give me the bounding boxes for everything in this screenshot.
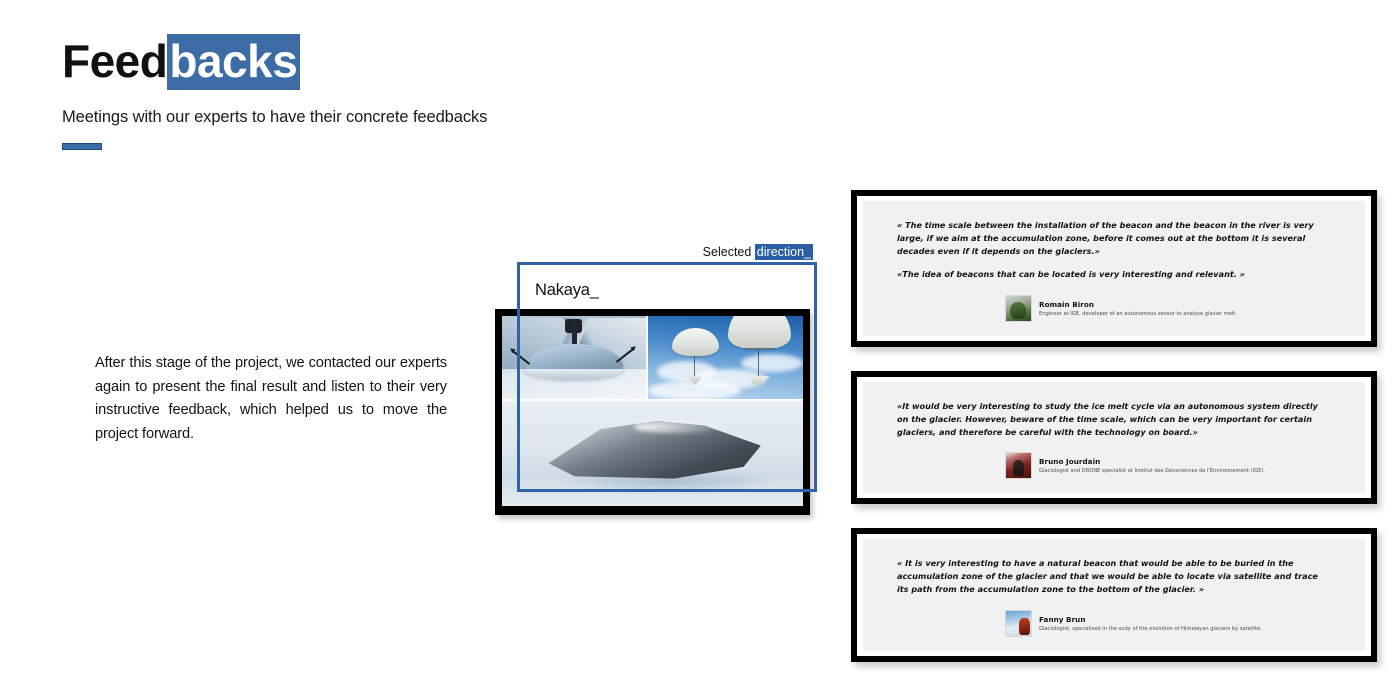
balloon-strut (744, 348, 775, 349)
render-parachute-balloons (646, 316, 803, 399)
avatar (1005, 452, 1032, 479)
attribution-meta: Bruno Jourdain Glaciologist and DRONE sp… (1039, 457, 1265, 474)
attribution: Bruno Jourdain Glaciologist and DRONE sp… (1005, 452, 1331, 479)
attribution: Romain Biron Engineer at IGE, developer … (1005, 295, 1331, 322)
render-dome-device-on-glacier (502, 316, 646, 399)
header: Feedbacks Meetings with our experts to h… (62, 38, 762, 150)
attribution-meta: Fanny Brun Glaciologist, specialised in … (1039, 615, 1262, 632)
dome-base (525, 369, 623, 380)
feedback-card-inner: « The time scale between the installatio… (857, 196, 1371, 341)
page-title: Feedbacks (62, 38, 762, 84)
feedback-card: « The time scale between the installatio… (851, 190, 1377, 347)
expert-role: Glaciologist and DRONE specialist at Ins… (1039, 468, 1265, 474)
balloon-canopy-small (672, 328, 719, 356)
showcase: Selected direction_ (490, 245, 835, 525)
expert-role: Engineer at IGE, developer of an autonom… (1039, 311, 1237, 317)
selected-direction-plain: Selected (703, 245, 755, 259)
intro-paragraph: After this stage of the project, we cont… (95, 352, 447, 447)
balloon-tether (694, 356, 695, 378)
feedback-card-body: « It is very interesting to have a natur… (863, 539, 1365, 650)
attribution-meta: Romain Biron Engineer at IGE, developer … (1039, 300, 1237, 317)
expert-role: Glaciologist, specialised in the sudy of… (1039, 626, 1262, 632)
feedback-card: «It would be very interesting to study t… (851, 371, 1377, 504)
feedback-card-body: « The time scale between the installatio… (863, 201, 1365, 336)
page-title-plain: Feed (62, 35, 167, 87)
avatar (1005, 295, 1032, 322)
quote-text: «It would be very interesting to study t… (897, 400, 1331, 438)
arrow-left-icon (511, 349, 530, 365)
feedback-card-body: «It would be very interesting to study t… (863, 382, 1365, 493)
feedback-card: « It is very interesting to have a natur… (851, 528, 1377, 661)
render-collage (502, 316, 803, 506)
balloon-tether (758, 349, 759, 376)
quote-text: «The idea of beacons that can be located… (897, 268, 1331, 281)
feedback-card-inner: « It is very interesting to have a natur… (857, 534, 1371, 655)
page-title-highlight: backs (167, 34, 300, 90)
render-beacon-hull-on-ice (502, 399, 803, 506)
feedback-card-inner: «It would be very interesting to study t… (857, 377, 1371, 498)
expert-name: Bruno Jourdain (1039, 457, 1265, 466)
expert-name: Romain Biron (1039, 300, 1237, 309)
balloon-canopy-large (728, 316, 790, 349)
quote-text: « The time scale between the installatio… (897, 219, 1331, 257)
title-accent-rule (62, 143, 102, 150)
selected-direction-label: Selected direction_ (703, 245, 813, 259)
quote-text: « It is very interesting to have a natur… (897, 557, 1331, 595)
attribution: Fanny Brun Glaciologist, specialised in … (1005, 610, 1331, 637)
page-subtitle: Meetings with our experts to have their … (62, 108, 762, 127)
selected-direction-highlight: direction_ (755, 244, 813, 260)
collage-top-row (502, 316, 803, 399)
render-collage-frame (495, 309, 810, 515)
showcase-card-title: Nakaya_ (535, 281, 599, 300)
expert-name: Fanny Brun (1039, 615, 1262, 624)
feedback-card-list: « The time scale between the installatio… (851, 190, 1377, 686)
arrow-right-icon (616, 347, 635, 363)
avatar (1005, 610, 1032, 637)
cloud-shape (741, 354, 803, 372)
